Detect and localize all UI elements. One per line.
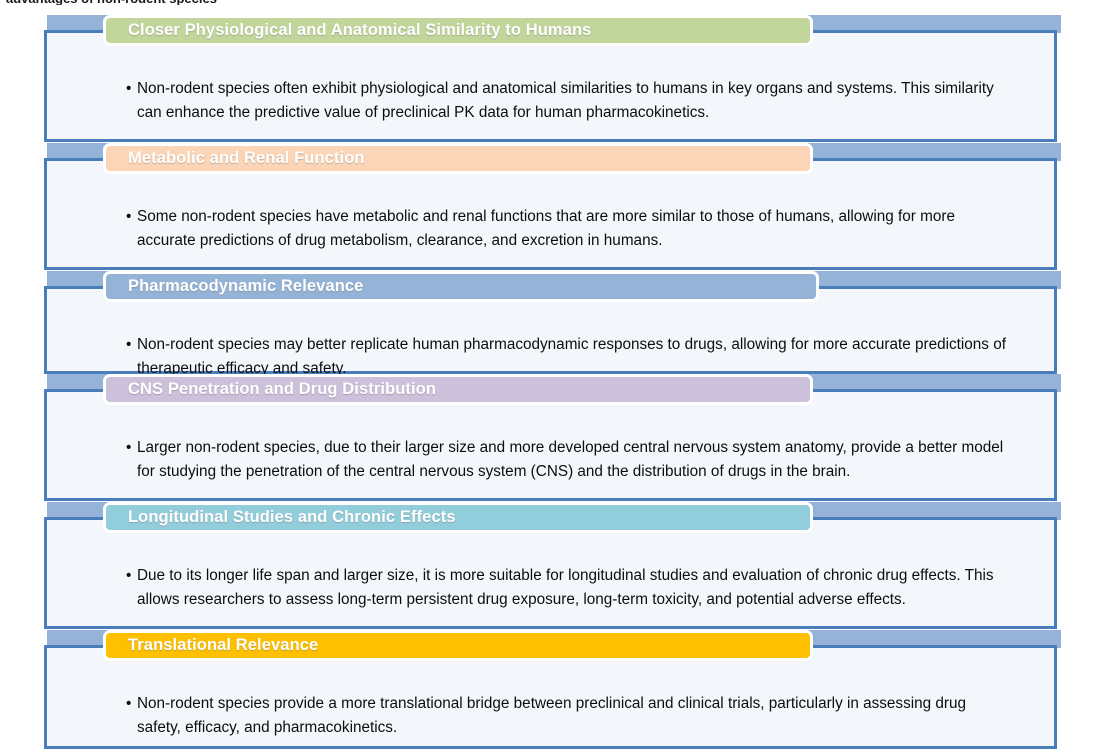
bullet-text: Non-rodent species may better replicate …: [137, 333, 1006, 380]
block-panel: •Non-rodent species often exhibit physio…: [44, 30, 1057, 142]
bullet-item: •Due to its longer life span and larger …: [126, 564, 1006, 611]
block-panel: •Larger non-rodent species, due to their…: [44, 389, 1057, 501]
block-header-label: Pharmacodynamic Relevance: [128, 277, 363, 296]
block-body: •Due to its longer life span and larger …: [126, 564, 1006, 611]
bullet-item: •Non-rodent species provide a more trans…: [126, 692, 1006, 739]
cut-off-caption-text: advantages of non-rodent species: [6, 0, 466, 5]
block-header-pill-cns-penetration-and-drug-distribution[interactable]: CNS Penetration and Drug Distribution: [103, 374, 813, 405]
block-body: •Some non-rodent species have metabolic …: [126, 205, 1006, 252]
block-header-pill-metabolic-and-renal-function[interactable]: Metabolic and Renal Function: [103, 143, 813, 174]
bullet-text: Non-rodent species provide a more transl…: [137, 692, 1006, 739]
block-header-label: Longitudinal Studies and Chronic Effects: [128, 508, 456, 527]
bullet-text: Some non-rodent species have metabolic a…: [137, 205, 1006, 252]
block-header-pill-translational-relevance[interactable]: Translational Relevance: [103, 630, 813, 661]
bullet-text: Larger non-rodent species, due to their …: [137, 436, 1006, 483]
bullet-item: •Larger non-rodent species, due to their…: [126, 436, 1006, 483]
bullet-glyph-icon: •: [126, 205, 137, 229]
block-header-pill-longitudinal-studies-and-chronic-effects[interactable]: Longitudinal Studies and Chronic Effects: [103, 502, 813, 533]
block-header-label: CNS Penetration and Drug Distribution: [128, 380, 436, 399]
block-header-pill-pharmacodynamic-relevance[interactable]: Pharmacodynamic Relevance: [103, 271, 819, 302]
block-body: •Non-rodent species provide a more trans…: [126, 692, 1006, 739]
bullet-glyph-icon: •: [126, 692, 137, 716]
bullet-glyph-icon: •: [126, 436, 137, 460]
bullet-glyph-icon: •: [126, 77, 137, 101]
bullet-item: •Non-rodent species may better replicate…: [126, 333, 1006, 380]
block-header-label: Metabolic and Renal Function: [128, 149, 365, 168]
block-body: •Larger non-rodent species, due to their…: [126, 436, 1006, 483]
block-header-label: Closer Physiological and Anatomical Simi…: [128, 21, 591, 40]
block-header-pill-closer-physiological-anatomical-similarity[interactable]: Closer Physiological and Anatomical Simi…: [103, 15, 813, 46]
bullet-item: •Non-rodent species often exhibit physio…: [126, 77, 1006, 124]
block-header-label: Translational Relevance: [128, 636, 318, 655]
block-panel: •Some non-rodent species have metabolic …: [44, 158, 1057, 270]
block-body: •Non-rodent species often exhibit physio…: [126, 77, 1006, 124]
smartart-vertical-block-list: •Non-rodent species often exhibit physio…: [0, 14, 1105, 752]
bullet-item: •Some non-rodent species have metabolic …: [126, 205, 1006, 252]
bullet-text: Non-rodent species often exhibit physiol…: [137, 77, 1006, 124]
block-panel: •Due to its longer life span and larger …: [44, 517, 1057, 629]
bullet-glyph-icon: •: [126, 564, 137, 588]
bullet-glyph-icon: •: [126, 333, 137, 357]
block-body: •Non-rodent species may better replicate…: [126, 333, 1006, 380]
bullet-text: Due to its longer life span and larger s…: [137, 564, 1006, 611]
